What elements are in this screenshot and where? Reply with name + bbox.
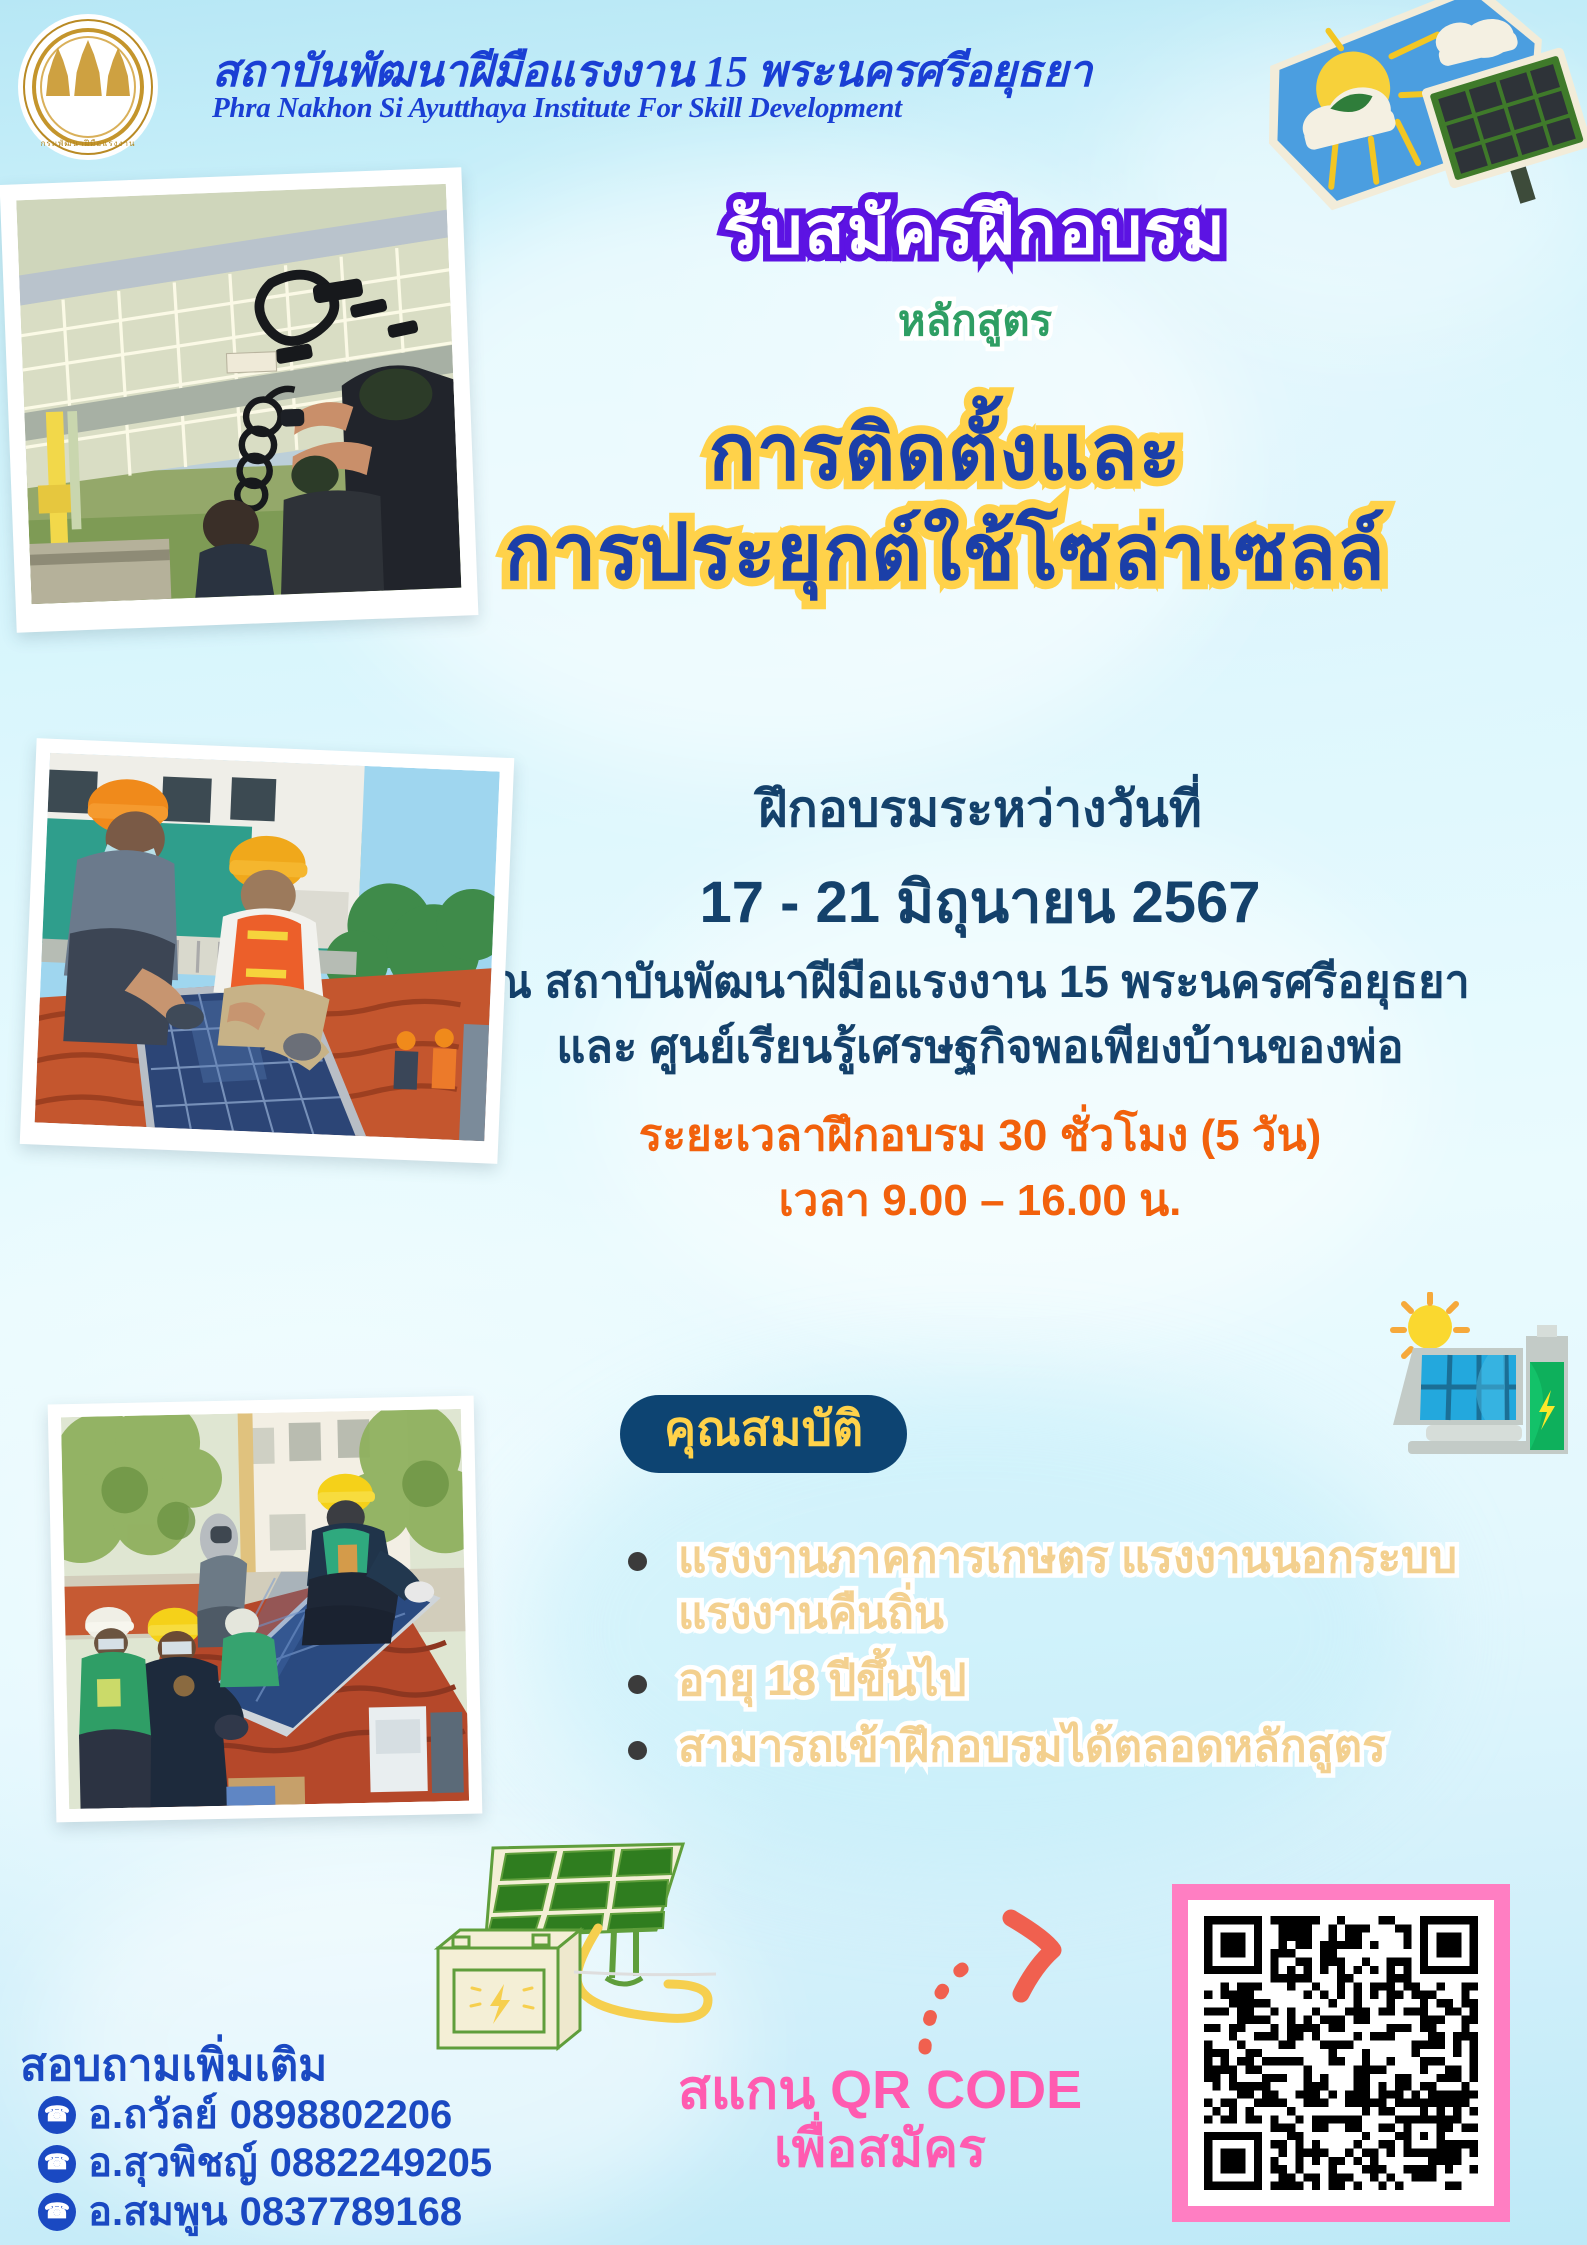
list-item: สามารถเข้าฝึกอบรมได้ตลอดหลักสูตร <box>620 1719 1550 1775</box>
date-range: 17 - 21 มิถุนายน 2567 <box>400 855 1560 948</box>
announcement-headline: รับสมัครฝึกอบรม <box>470 178 1480 283</box>
qr-caption: สแกน QR CODE เพื่อสมัคร <box>620 2060 1140 2179</box>
photo-image <box>35 753 500 1142</box>
contact-item[interactable]: ☎ อ.ถวัลย์ 0898802206 <box>38 2092 492 2138</box>
list-item: อายุ 18 ปีขึ้นไป <box>620 1653 1550 1709</box>
contact-list: ☎ อ.ถวัลย์ 0898802206 ☎ อ.สุวพิชญ์ 08822… <box>38 2092 492 2237</box>
contact-phone[interactable]: 0837789168 <box>240 2189 462 2235</box>
contact-name: อ.สุวพิชญ์ <box>88 2140 258 2186</box>
logo-deity-figures <box>18 40 158 99</box>
qr-caption-line-1: สแกน QR CODE <box>620 2060 1140 2120</box>
hand-drawn-solar-panel-battery-sketch <box>398 1838 718 2088</box>
contact-phone[interactable]: 0882249205 <box>270 2140 492 2186</box>
photo-image <box>16 184 461 604</box>
poster-canvas: กรมพัฒนาฝีมือแรงงาน สถาบันพัฒนาฝีมือแรงง… <box>0 0 1587 2245</box>
solar-panel-battery-icon <box>1338 1292 1587 1467</box>
venue-line-2: และ ศูนย์เรียนรู้เศรษฐกิจพอเพียงบ้านของพ… <box>400 1010 1560 1082</box>
phone-icon: ☎ <box>38 2145 76 2183</box>
photo-image <box>61 1409 469 1809</box>
list-item: แรงงานภาคการเกษตร แรงงานนอกระบบ แรงงานคื… <box>620 1530 1550 1643</box>
phone-icon: ☎ <box>38 2096 76 2134</box>
venue-line-1: ณ สถาบันพัฒนาฝีมือแรงงาน 15 พระนครศรีอยุ… <box>400 945 1560 1017</box>
course-title-line-2: การประยุกต์ใช้โซล่าเซลล์ <box>330 490 1560 614</box>
phone-icon: ☎ <box>38 2193 76 2231</box>
contact-item[interactable]: ☎ อ.สุวพิชญ์ 0882249205 <box>38 2140 492 2186</box>
organization-name-english: Phra Nakhon Si Ayutthaya Institute For S… <box>212 92 902 125</box>
contact-name: อ.ถวัลย์ <box>88 2092 218 2138</box>
logo-seal-text: กรมพัฒนาฝีมือแรงงาน <box>18 137 158 150</box>
qualifications-list: แรงงานภาคการเกษตร แรงงานนอกระบบ แรงงานคื… <box>620 1530 1550 1785</box>
photo-solar-carport-installation <box>0 167 478 632</box>
contact-name: อ.สมพูน <box>88 2189 228 2235</box>
contact-title: สอบถามเพิ่มเติม <box>20 2030 327 2100</box>
course-label: หลักสูตร <box>470 288 1480 354</box>
photo-team-lifting-panel <box>48 1396 483 1823</box>
training-time: เวลา 9.00 – 16.00 น. <box>400 1165 1560 1235</box>
contact-phone[interactable]: 0898802206 <box>230 2092 452 2138</box>
curved-dashed-arrow-to-qr <box>905 1908 1095 2058</box>
photo-roof-panel-mounting <box>20 738 515 1164</box>
organization-logo: กรมพัฒนาฝีมือแรงงาน <box>18 14 158 160</box>
contact-item[interactable]: ☎ อ.สมพูน 0837789168 <box>38 2189 492 2235</box>
qualifications-badge: คุณสมบัติ <box>620 1395 907 1473</box>
date-label: ฝึกอบรมระหว่างวันที่ <box>400 770 1560 849</box>
training-duration: ระยะเวลาฝึกอบรม 30 ชั่วโมง (5 วัน) <box>400 1100 1560 1170</box>
qr-code-frame[interactable] <box>1172 1884 1510 2222</box>
qr-caption-line-2: เพื่อสมัคร <box>620 2120 1140 2178</box>
qr-code-image[interactable] <box>1204 1916 1478 2190</box>
